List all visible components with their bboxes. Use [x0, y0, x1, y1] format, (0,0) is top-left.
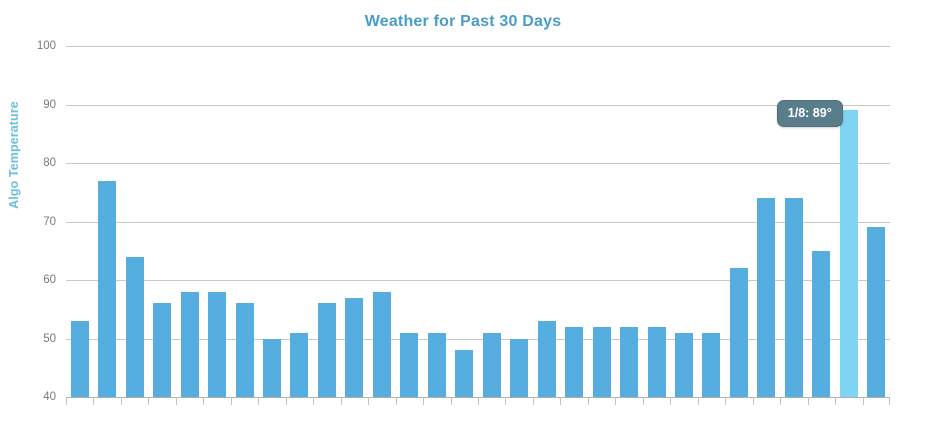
bar[interactable] [593, 327, 611, 397]
bar[interactable] [538, 321, 556, 397]
x-tick [451, 397, 452, 405]
x-tick [533, 397, 534, 405]
bar[interactable] [510, 339, 528, 398]
x-tick [93, 397, 94, 405]
bar[interactable] [208, 292, 226, 397]
x-tick [889, 397, 890, 405]
chart-title: Weather for Past 30 Days [0, 13, 926, 31]
y-axis-tick-labels: 100908070605040 [12, 46, 56, 397]
x-tick [725, 397, 726, 405]
bar[interactable] [400, 333, 418, 397]
y-tick-label: 90 [16, 99, 56, 111]
x-tick [643, 397, 644, 405]
bar[interactable] [702, 333, 720, 397]
x-tick [148, 397, 149, 405]
bar[interactable] [153, 303, 171, 397]
bar[interactable] [345, 298, 363, 397]
y-tick-label: 50 [16, 333, 56, 345]
x-axis-ticks [66, 397, 890, 406]
y-tick-label: 60 [16, 274, 56, 286]
y-tick-label: 70 [16, 216, 56, 228]
x-tick [121, 397, 122, 405]
bar-series: 1/8: 89° [66, 46, 890, 397]
x-tick [231, 397, 232, 405]
x-tick [835, 397, 836, 405]
x-tick [368, 397, 369, 405]
x-tick [615, 397, 616, 405]
bar[interactable] [840, 110, 858, 397]
bar[interactable] [675, 333, 693, 397]
x-tick [176, 397, 177, 405]
bar[interactable] [812, 251, 830, 397]
x-tick [313, 397, 314, 405]
bar[interactable] [785, 198, 803, 397]
x-tick [66, 397, 67, 405]
x-tick [670, 397, 671, 405]
y-tick-label: 100 [16, 40, 56, 52]
bar[interactable] [648, 327, 666, 397]
bar[interactable] [71, 321, 89, 397]
bar[interactable] [290, 333, 308, 397]
x-tick [396, 397, 397, 405]
bar[interactable] [181, 292, 199, 397]
x-tick [203, 397, 204, 405]
x-tick [286, 397, 287, 405]
bar[interactable] [867, 227, 885, 397]
y-tick-label: 40 [16, 391, 56, 403]
bar[interactable] [565, 327, 583, 397]
x-tick [808, 397, 809, 405]
bar[interactable] [263, 339, 281, 398]
x-tick [753, 397, 754, 405]
y-tick-label: 80 [16, 157, 56, 169]
bar[interactable] [318, 303, 336, 397]
x-tick [423, 397, 424, 405]
bar[interactable] [620, 327, 638, 397]
bar[interactable] [730, 268, 748, 397]
bar[interactable] [483, 333, 501, 397]
bar[interactable] [428, 333, 446, 397]
x-tick [863, 397, 864, 405]
bar[interactable] [236, 303, 254, 397]
chart-container: Weather for Past 30 Days Algo Temperatur… [0, 0, 926, 437]
x-tick [341, 397, 342, 405]
x-tick [698, 397, 699, 405]
bar[interactable] [126, 257, 144, 397]
bar[interactable] [757, 198, 775, 397]
x-tick [258, 397, 259, 405]
bar[interactable] [455, 350, 473, 397]
x-tick [560, 397, 561, 405]
x-tick [478, 397, 479, 405]
x-tick [505, 397, 506, 405]
bar-tooltip: 1/8: 89° [777, 100, 843, 127]
bar[interactable] [373, 292, 391, 397]
x-tick [588, 397, 589, 405]
bar[interactable] [98, 181, 116, 397]
x-tick [780, 397, 781, 405]
